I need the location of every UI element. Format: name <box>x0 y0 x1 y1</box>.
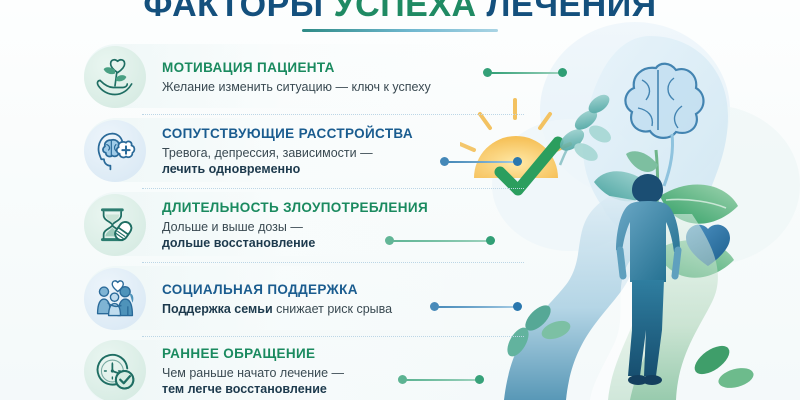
factor-subtext: Поддержка семьи снижает риск срыва <box>162 301 392 317</box>
title-part-1: ФАКТОРЫ <box>143 0 323 24</box>
title-part-3: ЛЕЧЕНИЯ <box>487 0 657 24</box>
factor-subtext-line1: Чем раньше начато лечение — <box>162 366 344 380</box>
factor-subtext: Дольше и выше дозы — дольше восстановлен… <box>162 219 428 251</box>
factor-subtext-line1: Тревога, депрессия, зависимости — <box>162 146 373 160</box>
factor-heading: СОЦИАЛЬНАЯ ПОДДЕРЖКА <box>162 282 392 298</box>
recovery-journey-illustration <box>460 0 800 400</box>
head-brain-medical-plus-icon <box>84 120 146 182</box>
factor-subtext-line2: дольше восстановление <box>162 235 428 251</box>
factor-heading: РАННЕЕ ОБРАЩЕНИЕ <box>162 346 344 362</box>
factor-heading: СОПУТСТВУЮЩИЕ РАССТРОЙСТВА <box>162 126 413 142</box>
list-item[interactable]: СОЦИАЛЬНАЯ ПОДДЕРЖКА Поддержка семьи сни… <box>84 262 504 336</box>
factor-subtext-line1: Желание изменить ситуацию — ключ к успех… <box>162 80 431 94</box>
title-underline <box>302 29 498 32</box>
connector-dot-end <box>513 302 522 311</box>
row-text: МОТИВАЦИЯ ПАЦИЕНТА Желание изменить ситу… <box>162 60 431 95</box>
factor-subtext-line1: снижает риск срыва <box>273 302 392 316</box>
factor-subtext: Чем раньше начато лечение — тем легче во… <box>162 365 344 397</box>
factor-heading: МОТИВАЦИЯ ПАЦИЕНТА <box>162 60 431 76</box>
factors-list: МОТИВАЦИЯ ПАЦИЕНТА Желание изменить ситу… <box>84 40 504 400</box>
family-heart-icon <box>84 268 146 330</box>
factor-subtext-line2: лечить одновременно <box>162 161 413 177</box>
row-text: СОЦИАЛЬНАЯ ПОДДЕРЖКА Поддержка семьи сни… <box>162 282 392 317</box>
list-item[interactable]: РАННЕЕ ОБРАЩЕНИЕ Чем раньше начато лечен… <box>84 336 504 400</box>
hourglass-pill-icon <box>84 194 146 256</box>
factor-subtext: Тревога, депрессия, зависимости — лечить… <box>162 145 413 177</box>
list-item[interactable]: СОПУТСТВУЮЩИЕ РАССТРОЙСТВА Тревога, депр… <box>84 114 504 188</box>
row-text: ДЛИТЕЛЬНОСТЬ ЗЛОУПОТРЕБЛЕНИЯ Дольше и вы… <box>162 200 428 251</box>
factor-subtext-line1: Дольше и выше дозы — <box>162 220 303 234</box>
row-text: РАННЕЕ ОБРАЩЕНИЕ Чем раньше начато лечен… <box>162 346 344 397</box>
connector-dot-end <box>558 68 567 77</box>
factor-subtext-line2: тем легче восстановление <box>162 381 344 397</box>
row-text: СОПУТСТВУЮЩИЕ РАССТРОЙСТВА Тревога, депр… <box>162 126 413 177</box>
clock-checkmark-icon <box>84 340 146 400</box>
page-title: ФАКТОРЫ УСПЕХА ЛЕЧЕНИЯ <box>0 0 800 22</box>
list-item[interactable]: МОТИВАЦИЯ ПАЦИЕНТА Желание изменить ситу… <box>84 40 504 114</box>
factor-subtext-bold-lead: Поддержка семьи <box>162 302 273 316</box>
hand-holding-plant-heart-icon <box>84 46 146 108</box>
list-item[interactable]: ДЛИТЕЛЬНОСТЬ ЗЛОУПОТРЕБЛЕНИЯ Дольше и вы… <box>84 188 504 262</box>
title-part-2: УСПЕХА <box>334 0 477 24</box>
infographic-page: ФАКТОРЫ УСПЕХА ЛЕЧЕНИЯ <box>0 0 800 400</box>
factor-heading: ДЛИТЕЛЬНОСТЬ ЗЛОУПОТРЕБЛЕНИЯ <box>162 200 428 216</box>
title-block: ФАКТОРЫ УСПЕХА ЛЕЧЕНИЯ <box>0 0 800 32</box>
factor-subtext: Желание изменить ситуацию — ключ к успех… <box>162 79 431 95</box>
connector-dot-end <box>513 157 522 166</box>
